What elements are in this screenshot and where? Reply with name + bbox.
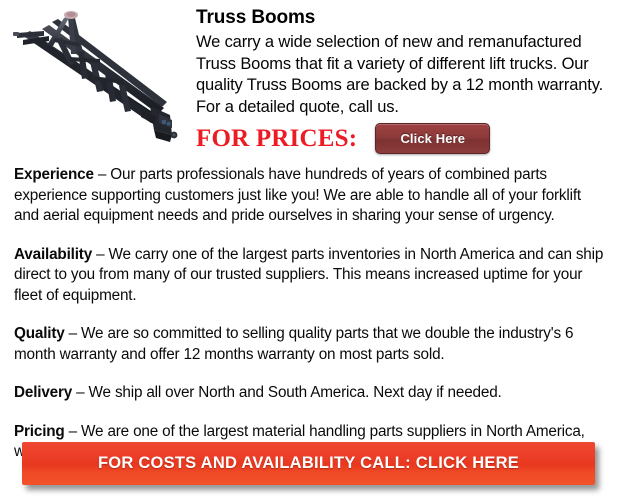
feature-paragraph: Quality – We are so committed to selling… — [14, 324, 608, 365]
page-title: Truss Booms — [196, 6, 610, 29]
feature-body: – We are so committed to selling quality… — [14, 325, 573, 363]
feature-body: – We ship all over North and South Ameri… — [72, 384, 502, 401]
feature-term: Experience — [14, 166, 94, 183]
feature-paragraph: Availability – We carry one of the large… — [14, 245, 608, 307]
click-here-button-label: Click Here — [400, 131, 465, 146]
product-description: We carry a wide selection of new and rem… — [196, 32, 610, 118]
for-prices-row: FOR PRICES: Click Here — [196, 123, 490, 154]
truss-boom-illustration — [4, 2, 190, 152]
feature-term: Availability — [14, 246, 92, 263]
click-here-button[interactable]: Click Here — [375, 123, 490, 154]
features-list: Experience – Our parts professionals hav… — [14, 165, 608, 463]
feature-body: – Our parts professionals have hundreds … — [14, 166, 581, 224]
feature-term: Delivery — [14, 384, 72, 401]
feature-body: – We carry one of the largest parts inve… — [14, 246, 603, 304]
for-prices-label: FOR PRICES: — [196, 125, 357, 153]
feature-term: Pricing — [14, 423, 65, 440]
feature-term: Quality — [14, 325, 65, 342]
feature-paragraph: Delivery – We ship all over North and So… — [14, 383, 608, 404]
cta-banner-label: FOR COSTS AND AVAILABILITY CALL: CLICK H… — [98, 454, 519, 473]
feature-paragraph: Experience – Our parts professionals hav… — [14, 165, 608, 227]
product-image — [4, 2, 190, 152]
product-header: Truss Booms We carry a wide selection of… — [0, 0, 619, 162]
cta-banner-button[interactable]: FOR COSTS AND AVAILABILITY CALL: CLICK H… — [22, 442, 595, 485]
header-text-block: Truss Booms We carry a wide selection of… — [196, 6, 610, 118]
